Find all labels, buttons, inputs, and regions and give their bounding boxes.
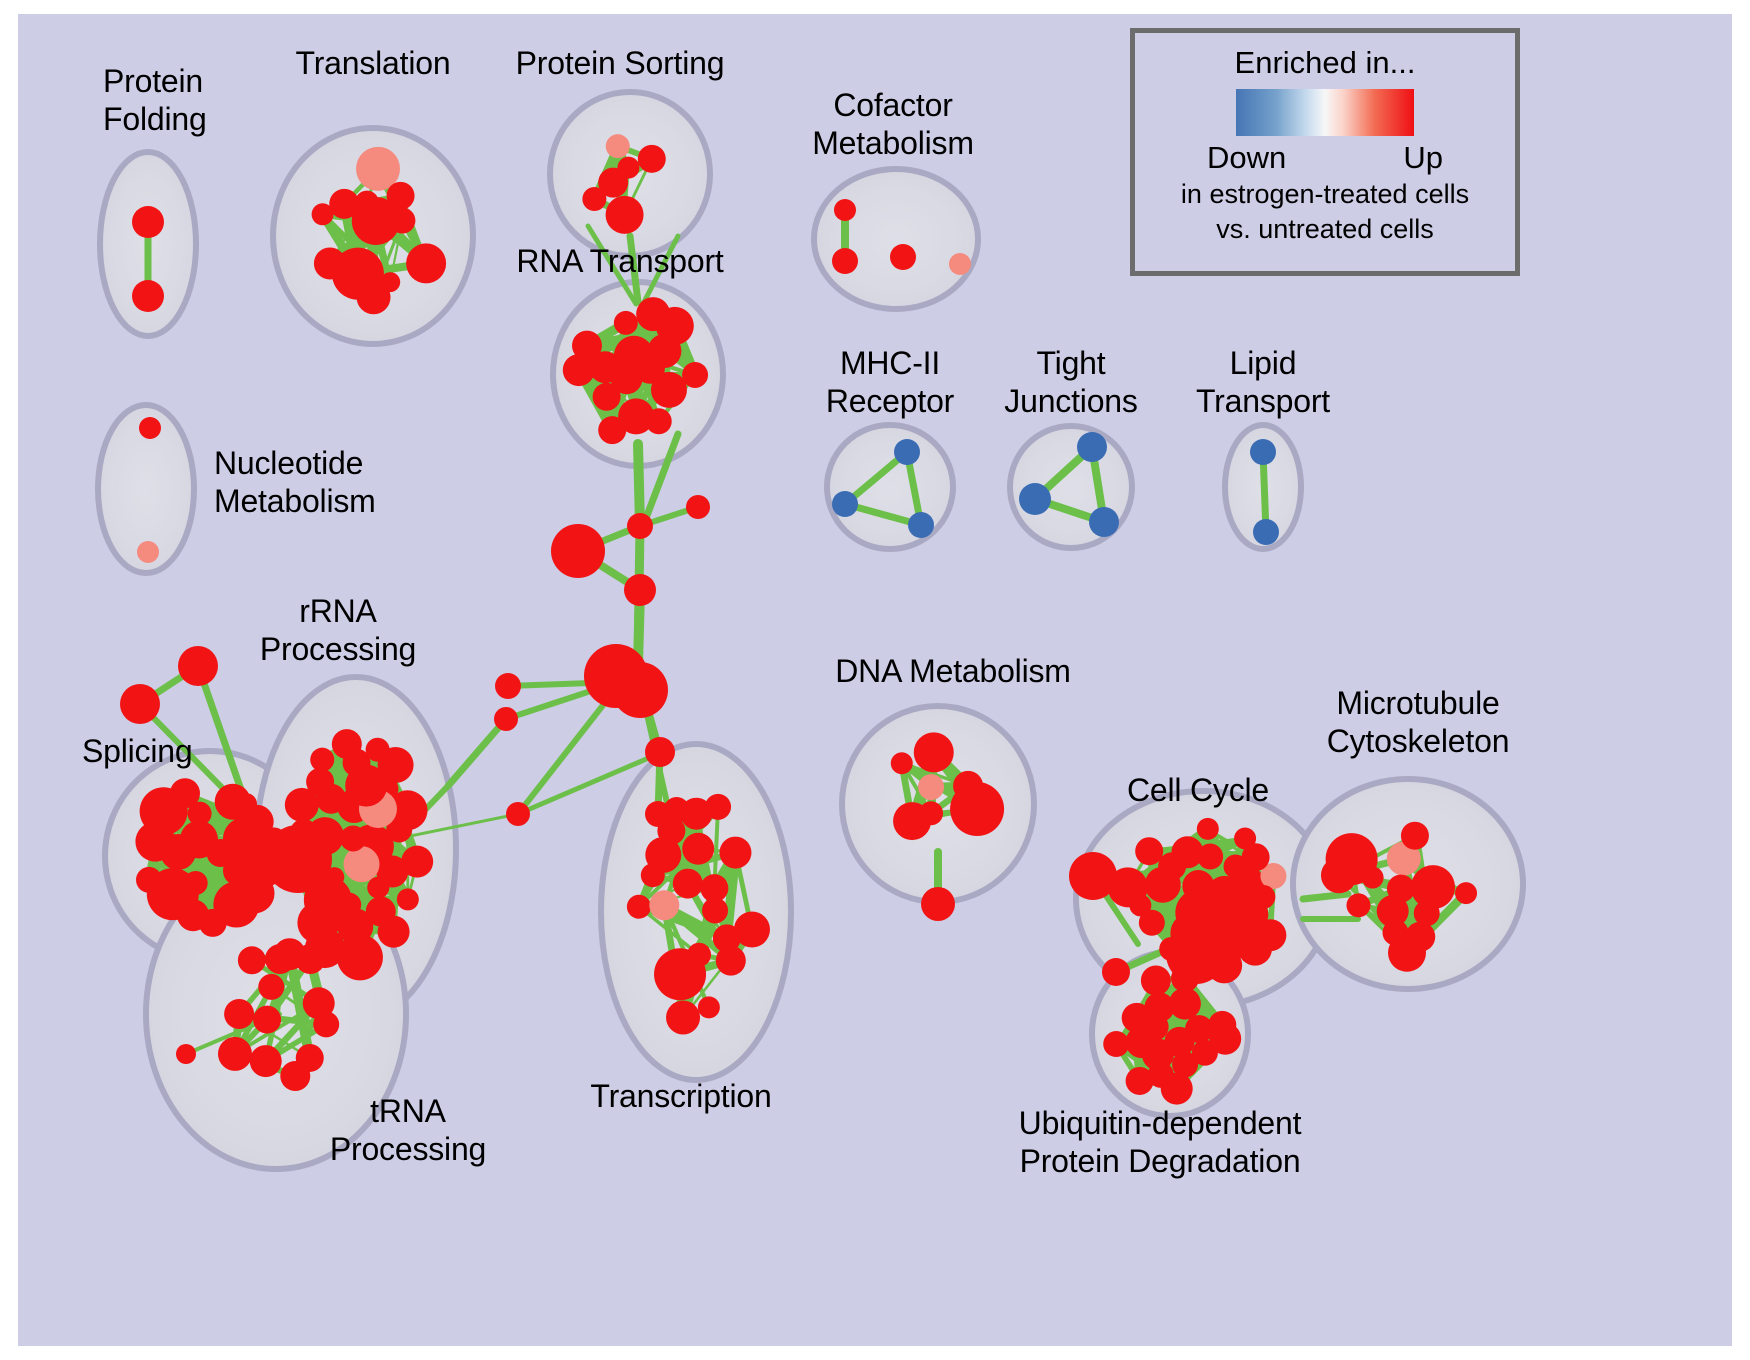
cluster-ellipse-cofactor-metabolism [814,169,978,309]
gene-set-node[interactable] [654,948,706,1000]
gene-set-node[interactable] [120,684,160,724]
gene-set-node[interactable] [834,199,856,221]
gene-set-node[interactable] [224,999,254,1029]
gene-set-node[interactable] [495,673,521,699]
gene-set-node[interactable] [1185,1015,1213,1043]
gene-set-node[interactable] [1253,519,1279,545]
gene-set-node[interactable] [1405,922,1435,952]
gene-set-node[interactable] [1197,818,1219,840]
gene-set-node[interactable] [389,208,415,234]
gene-set-node[interactable] [258,974,284,1000]
gene-set-node[interactable] [132,206,164,238]
gene-set-node[interactable] [264,825,332,893]
gene-set-node[interactable] [378,916,410,948]
gene-set-node[interactable] [1250,439,1276,465]
gene-set-node[interactable] [719,837,751,869]
gene-set-node[interactable] [636,297,670,331]
gene-set-node[interactable] [1251,885,1275,909]
gene-set-node[interactable] [367,877,389,899]
gene-set-node[interactable] [606,134,630,158]
gene-set-node[interactable] [624,574,656,606]
color-scale-bar [1236,89,1414,136]
gene-set-node[interactable] [345,765,387,807]
gene-set-node[interactable] [953,771,983,801]
gene-set-node[interactable] [617,157,639,179]
legend-high-label: Up [1403,140,1443,176]
gene-set-node[interactable] [1172,1051,1198,1077]
gene-set-node[interactable] [137,541,159,563]
gene-set-node[interactable] [160,834,196,870]
gene-set-node[interactable] [178,646,218,686]
network-plot-area: ProteinFolding Translation NucleotideMet… [18,14,1732,1346]
gene-set-node[interactable] [406,243,446,283]
gene-set-node[interactable] [1326,833,1378,885]
gene-set-node[interactable] [1211,893,1255,937]
gene-set-node[interactable] [1161,1073,1193,1105]
gene-set-node[interactable] [682,362,708,388]
gene-set-node[interactable] [397,888,419,910]
gene-set-node[interactable] [1208,1011,1236,1039]
gene-set-node[interactable] [184,871,208,895]
gene-set-node[interactable] [682,833,714,865]
gene-set-node[interactable] [344,846,380,882]
legend-box: Enriched in... Down Up in estrogen-treat… [1130,28,1520,276]
gene-set-node[interactable] [265,944,295,974]
gene-set-node[interactable] [1455,882,1477,904]
gene-set-node[interactable] [891,752,913,774]
gene-set-node[interactable] [1242,843,1270,871]
gene-set-node[interactable] [1145,867,1181,903]
gene-set-node[interactable] [188,802,212,826]
legend-caption-line-2: vs. untreated cells [1216,213,1434,246]
gene-set-node[interactable] [666,1000,700,1034]
gene-set-node[interactable] [332,729,362,759]
gene-set-node[interactable] [253,1006,281,1034]
gene-set-node[interactable] [673,869,703,899]
gene-set-node[interactable] [1141,965,1171,995]
gene-set-node[interactable] [295,944,325,974]
gene-set-node[interactable] [139,417,161,439]
gene-set-node[interactable] [337,893,361,917]
gene-set-node[interactable] [401,846,433,878]
gene-set-node[interactable] [218,1037,252,1071]
gene-set-node[interactable] [1102,958,1130,986]
gene-set-node[interactable] [1144,992,1174,1022]
gene-set-node[interactable] [832,248,858,274]
gene-set-node[interactable] [1103,1031,1129,1057]
edge [448,719,506,786]
gene-set-node[interactable] [645,737,675,767]
gene-set-node[interactable] [303,987,335,1019]
gene-set-node[interactable] [1089,507,1119,537]
gene-set-node[interactable] [627,895,651,919]
gene-set-node[interactable] [340,825,366,851]
legend-caption-line-1: in estrogen-treated cells [1181,178,1469,211]
gene-set-node[interactable] [235,793,257,815]
gene-set-node[interactable] [614,311,638,335]
gene-set-node[interactable] [635,354,665,384]
gene-set-node[interactable] [1171,836,1203,868]
gene-set-node[interactable] [355,191,379,215]
gene-set-node[interactable] [641,863,665,887]
gene-set-node[interactable] [582,187,606,211]
gene-set-node[interactable] [921,887,955,921]
gene-set-node[interactable] [132,280,164,312]
gene-set-node[interactable] [649,890,679,920]
gene-set-node[interactable] [280,1061,310,1091]
gene-set-node[interactable] [1077,432,1107,462]
gene-set-node[interactable] [1166,924,1226,984]
gene-set-node[interactable] [949,253,971,275]
gene-set-node[interactable] [136,867,162,893]
gene-set-node[interactable] [612,662,668,718]
gene-set-node[interactable] [919,801,943,825]
gene-set-node[interactable] [1069,852,1117,900]
gene-set-node[interactable] [908,512,934,538]
gene-set-node[interactable] [914,732,954,772]
gene-set-node[interactable] [223,856,253,886]
gene-set-node[interactable] [918,774,944,800]
gene-set-node[interactable] [563,354,595,386]
gene-set-node[interactable] [1142,1039,1174,1071]
gene-set-node[interactable] [250,1045,282,1077]
gene-set-node[interactable] [177,899,209,931]
gene-set-node[interactable] [494,707,518,731]
gene-set-node[interactable] [832,491,858,517]
gene-set-node[interactable] [638,145,666,173]
legend-low-label: Down [1207,140,1286,176]
gene-set-node[interactable] [238,946,266,974]
gene-set-node[interactable] [890,244,916,270]
gene-set-node[interactable] [1019,483,1051,515]
legend-title: Enriched in... [1235,45,1416,81]
gene-set-node[interactable] [1129,894,1151,916]
edge [1303,894,1348,899]
figure-canvas: ProteinFolding Translation NucleotideMet… [0,0,1750,1360]
gene-set-node[interactable] [306,768,334,796]
gene-set-node[interactable] [297,902,339,944]
gene-set-node[interactable] [387,182,415,210]
gene-set-node[interactable] [1346,893,1370,917]
gene-set-node[interactable] [734,912,770,948]
gene-set-node[interactable] [627,513,653,539]
gene-set-node[interactable] [1377,895,1409,927]
gene-set-node[interactable] [894,439,920,465]
gene-set-node[interactable] [1135,837,1163,865]
gene-set-node[interactable] [337,934,383,980]
gene-set-node[interactable] [680,798,712,830]
gene-set-node[interactable] [1254,919,1286,951]
gene-set-node[interactable] [618,398,654,434]
gene-set-node[interactable] [312,203,334,225]
legend-endpoint-labels: Down Up [1207,140,1443,176]
gene-set-node[interactable] [716,946,746,976]
gene-set-node[interactable] [551,524,605,578]
gene-set-node[interactable] [645,801,671,827]
cluster-ellipse-mhc-ii-receptor [827,425,953,549]
gene-set-node[interactable] [314,247,346,279]
gene-set-node[interactable] [702,897,728,923]
gene-set-node[interactable] [506,802,530,826]
gene-set-node[interactable] [606,196,644,234]
gene-set-node[interactable] [686,495,710,519]
gene-set-node[interactable] [1126,1067,1154,1095]
gene-set-node[interactable] [698,996,720,1018]
gene-set-node[interactable] [176,1044,196,1064]
gene-set-node[interactable] [1401,822,1429,850]
